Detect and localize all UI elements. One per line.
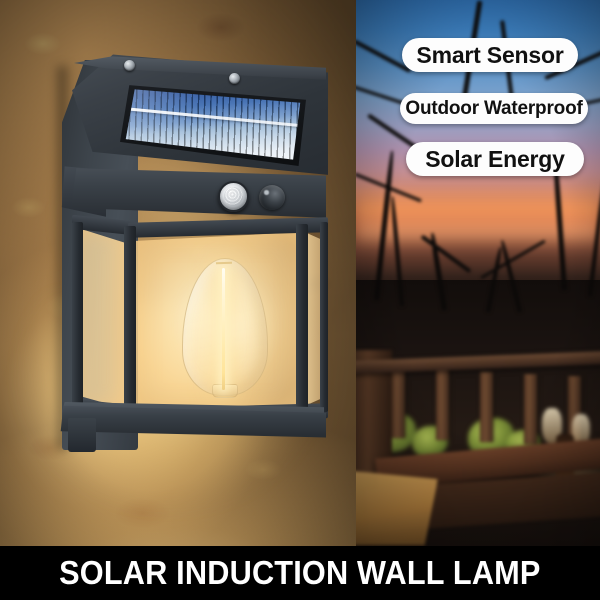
- frame-post-right: [296, 224, 308, 412]
- roof-screw-left: [124, 60, 135, 71]
- feature-badge-label: Smart Sensor: [416, 42, 563, 69]
- feature-badge-outdoor-waterproof[interactable]: Outdoor Waterproof: [400, 93, 588, 124]
- feature-badge-list: Smart Sensor Outdoor Waterproof Solar En…: [356, 0, 600, 200]
- feature-badge-label: Outdoor Waterproof: [405, 98, 582, 120]
- outdoor-scene-panel: Smart Sensor Outdoor Waterproof Solar En…: [356, 0, 600, 546]
- product-image: Smart Sensor Outdoor Waterproof Solar En…: [0, 0, 600, 600]
- lantern-housing: [72, 218, 328, 418]
- photocell-light-sensor-icon: [259, 185, 285, 210]
- feature-badge-solar-energy[interactable]: Solar Energy: [406, 142, 584, 176]
- banner-title: SOLAR INDUCTION WALL LAMP: [59, 554, 540, 592]
- frame-post-corner: [124, 226, 136, 416]
- feature-badge-smart-sensor[interactable]: Smart Sensor: [402, 38, 578, 72]
- roof-screw-right: [229, 73, 240, 84]
- feature-badge-label: Solar Energy: [425, 146, 565, 173]
- bottom-banner: SOLAR INDUCTION WALL LAMP: [0, 546, 600, 600]
- led-filament: [222, 268, 225, 390]
- glass-panel-left: [78, 228, 130, 410]
- frame-post-far: [320, 222, 328, 412]
- solar-wall-lamp: [58, 52, 328, 457]
- frame-post-left: [72, 222, 83, 416]
- base-mount-tab: [68, 418, 96, 452]
- lamp-photo-panel: [0, 0, 356, 546]
- pir-motion-sensor-icon: [218, 181, 249, 212]
